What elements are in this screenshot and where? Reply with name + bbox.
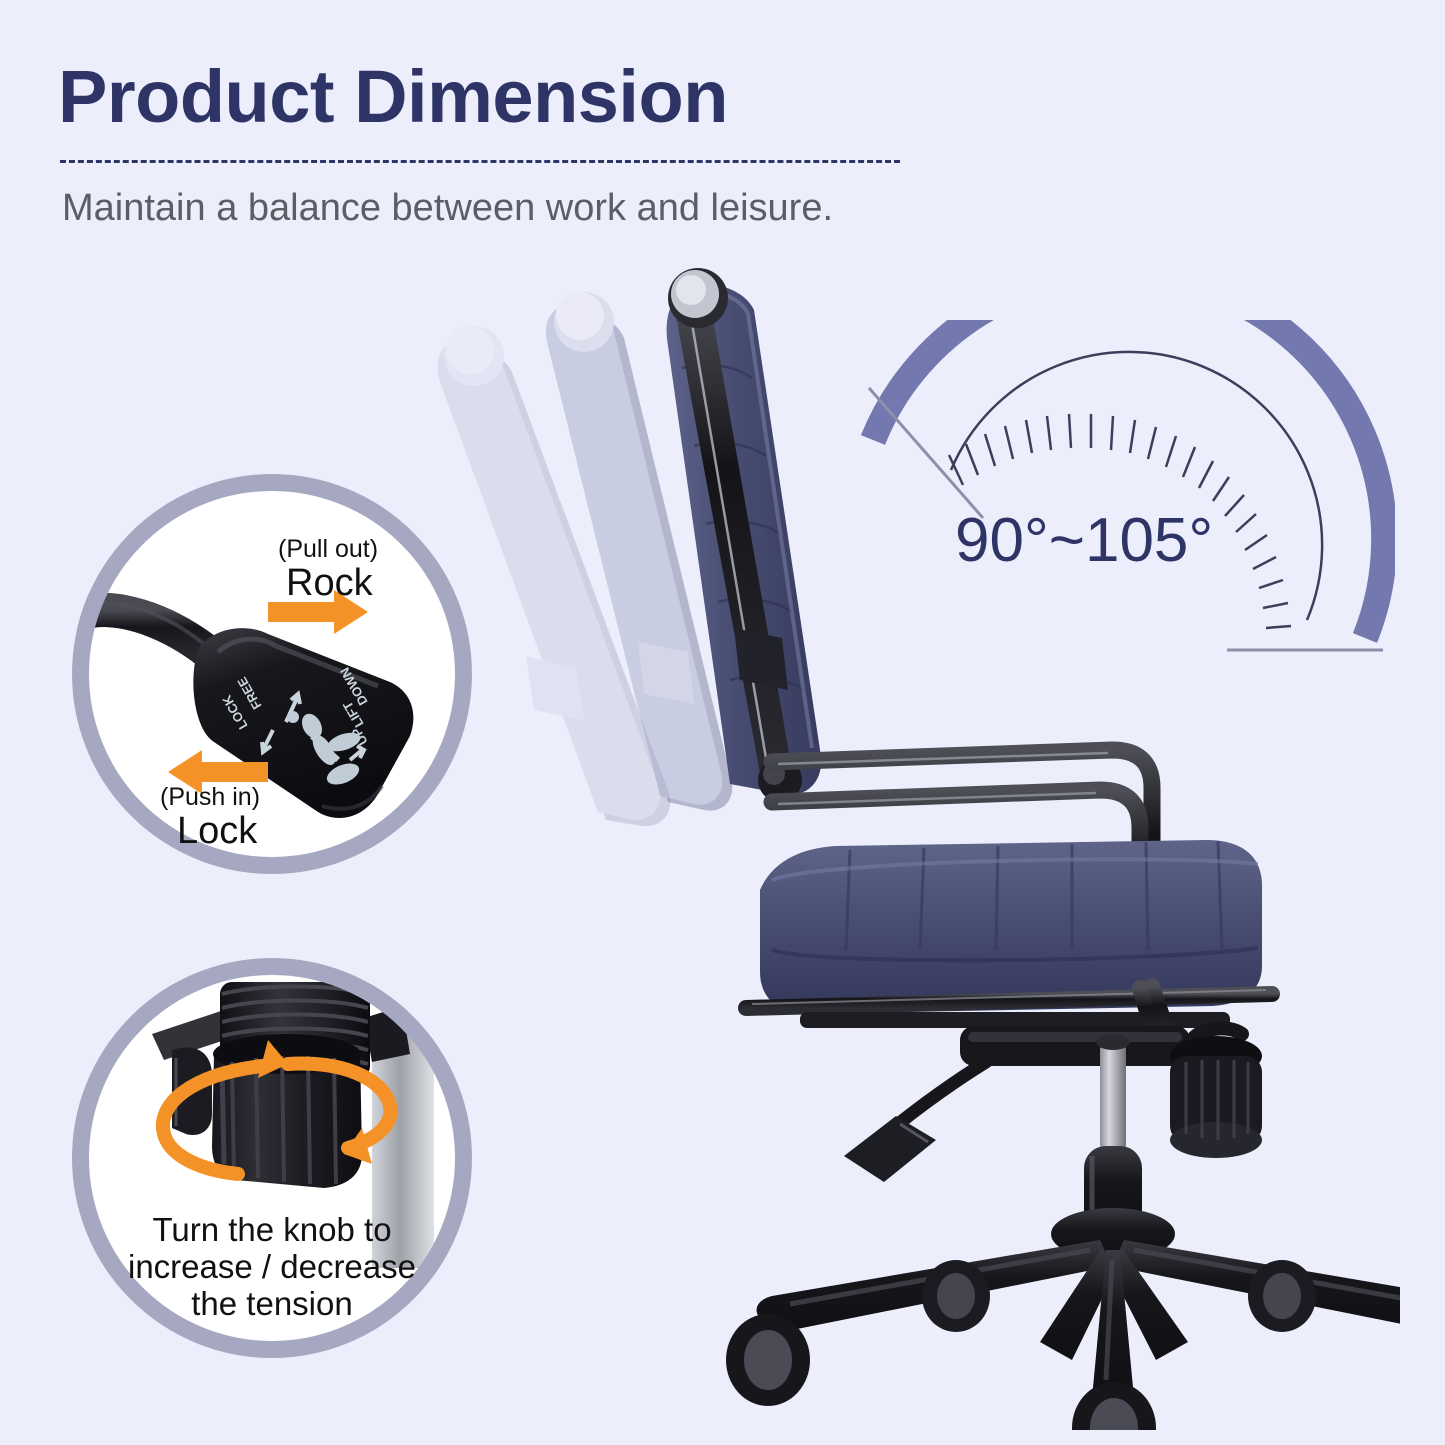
caster-wheel (922, 1260, 990, 1332)
product-infographic: Product Dimension Maintain a balance bet… (0, 0, 1445, 1445)
page-title: Product Dimension (58, 58, 728, 136)
label-push-in: (Push in) (160, 783, 260, 812)
page-subtitle: Maintain a balance between work and leis… (62, 186, 833, 232)
tilt-lock-lever (844, 1062, 986, 1182)
caster-wheel (726, 1314, 810, 1406)
tension-caption-line-3: the tension (88, 1286, 456, 1323)
caster-wheel (1072, 1382, 1156, 1430)
tension-caption-line-1: Turn the knob to (88, 1212, 456, 1249)
label-rock: Rock (286, 562, 373, 605)
label-pull-out: (Pull out) (278, 535, 378, 564)
caster-wheel (1248, 1260, 1316, 1332)
title-divider (60, 160, 900, 163)
tilt-mechanism-housing (960, 1026, 1190, 1066)
tension-knob (1170, 1028, 1262, 1158)
label-lock: Lock (177, 810, 257, 853)
tilt-lever-photo: FREE LOCK DOWN LIFT UP (72, 474, 472, 874)
office-chair-illustration (400, 250, 1400, 1430)
tension-caption-line-2: increase / decrease (88, 1249, 456, 1286)
seat-cushion (760, 840, 1262, 1014)
callout-tilt-lock: FREE LOCK DOWN LIFT UP (72, 474, 472, 874)
tension-caption: Turn the knob to increase / decrease the… (88, 1212, 456, 1323)
chair-graphic (400, 250, 1400, 1430)
